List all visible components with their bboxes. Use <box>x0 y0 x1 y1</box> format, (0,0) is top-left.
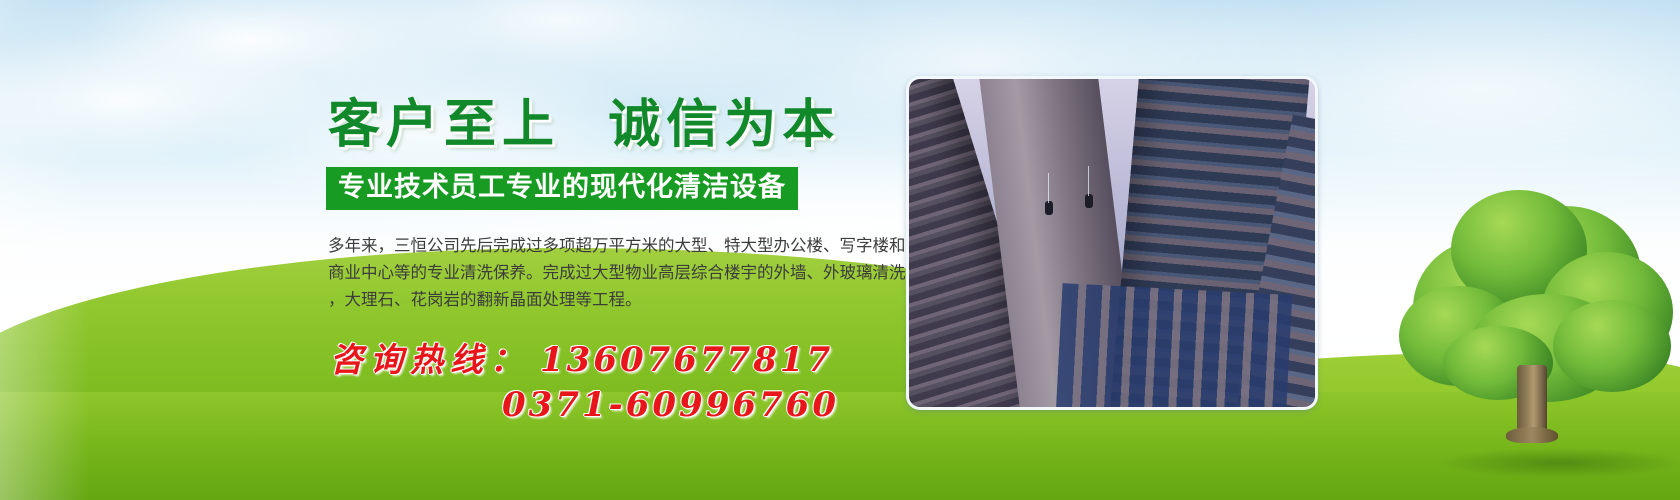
description-line-3: ，大理石、花岗岩的翻新晶面处理等工程。 <box>328 286 888 313</box>
building-glass-facade <box>1056 283 1292 407</box>
promo-banner: 客户至上 诚信为本 专业技术员工专业的现代化清洁设备 多年来，三恒公司先后完成过… <box>0 0 1680 500</box>
hotline-label: 咨询热线： <box>330 340 530 379</box>
description-paragraph: 多年来，三恒公司先后完成过多项超万平方米的大型、特大型办公楼、写字楼和 商业中心… <box>328 232 888 313</box>
building-photo-card <box>906 76 1318 410</box>
tree-illustration <box>1395 190 1680 455</box>
building-photo-image <box>909 79 1315 407</box>
rope-access-worker-icon <box>1045 201 1053 215</box>
rope-access-worker-icon <box>1085 194 1093 208</box>
tree-shadow <box>1440 448 1680 478</box>
subtitle-badge: 专业技术员工专业的现代化清洁设备 <box>326 167 798 210</box>
description-line-2: 商业中心等的专业清洗保养。完成过大型物业高层综合楼宇的外墙、外玻璃清洗 <box>328 259 888 286</box>
grass-shading-overlay <box>0 430 1680 500</box>
hotline-mobile-number[interactable]: 13607677817 <box>540 340 833 380</box>
page-title: 客户至上 诚信为本 <box>328 96 902 153</box>
banner-text-block: 客户至上 诚信为本 专业技术员工专业的现代化清洁设备 多年来，三恒公司先后完成过… <box>322 96 902 429</box>
left-edge-fade <box>0 0 90 500</box>
hotline-block: 咨询热线：13607677817 0371-60996760 <box>330 339 902 429</box>
description-line-1: 多年来，三恒公司先后完成过多项超万平方米的大型、特大型办公楼、写字楼和 <box>328 232 888 259</box>
hotline-landline-number[interactable]: 0371-60996760 <box>502 381 902 429</box>
hotline-primary-row: 咨询热线：13607677817 <box>330 339 902 381</box>
